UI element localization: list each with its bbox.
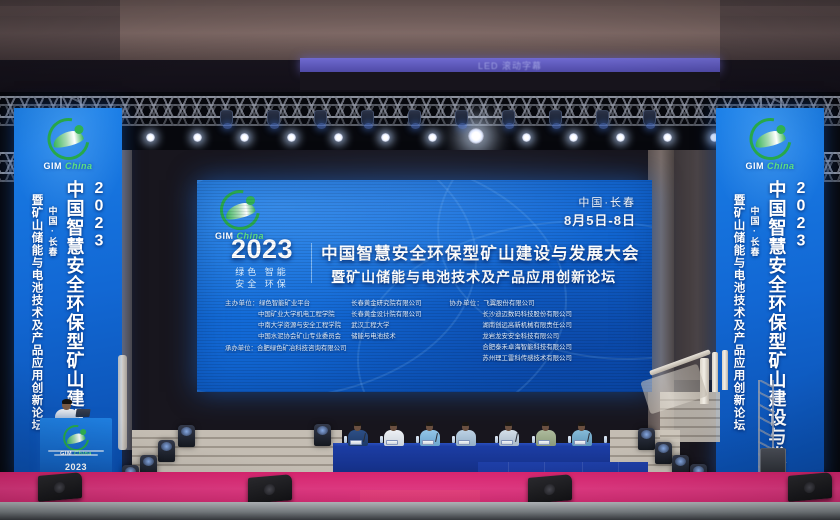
gim-logo-text-main: GIM (43, 161, 62, 171)
name-plate (574, 440, 586, 445)
credits-host-item: 中南大学资源与安全工程学院 (225, 320, 341, 331)
credits-host-col2: 长春黄金研究院有限公司 长春黄金设计院有限公司 武汉工程大学 储能与电池技术 (351, 298, 421, 364)
main-led-screen: GIM China 中国·长春 8月5日-8日 2023 绿色 智能 安全 环保… (197, 180, 652, 392)
credits-host-item: 储能与电池技术 (351, 331, 421, 342)
moving-head-light (361, 110, 374, 126)
gim-logo-mark-icon (749, 118, 791, 160)
credits-host-item: 长春黄金设计院有限公司 (351, 309, 421, 320)
water-bottle (452, 436, 455, 443)
led-ticker-strip: LED 滚动字幕 (300, 58, 720, 72)
water-bottle (568, 436, 571, 443)
credits-host-item: 长春黄金研究院有限公司 (351, 298, 421, 309)
stage-monitor-speaker (38, 472, 82, 502)
credits-host-item: 中国矿业大学机电工程学院 (225, 309, 341, 320)
floor-moving-light (655, 442, 672, 464)
gim-logo-mark-icon (220, 190, 260, 230)
floor-moving-light (178, 425, 195, 447)
water-bottle (532, 436, 535, 443)
credits-organizer-value: 合肥绿色矿冶科技咨询有限公司 (257, 345, 346, 352)
balustrade-post (722, 350, 728, 390)
credits-host-label: 主办单位： (225, 300, 259, 307)
gim-logo-mark-icon (47, 118, 89, 160)
podium-title-line (54, 454, 99, 456)
name-plate (458, 440, 470, 445)
credits-cohost-item: 长沙迪迈数码科技股份有限公司 (449, 309, 571, 320)
credits-cohost-item: 合肥泰禾卓海智能科技有限公司 (449, 342, 571, 353)
credits-cohost-item: 苏州理工雷科传感技术有限公司 (449, 353, 571, 364)
proscenium-wall-right (674, 150, 720, 380)
moving-head-light (502, 110, 515, 126)
name-plate (350, 440, 362, 445)
gim-logo-text-cn: China (65, 161, 93, 171)
credits-host-item: 中国水泥协会矿山专业委员会 (225, 331, 341, 342)
credits-host-item: 绿色智能矿业平台 (259, 300, 310, 307)
credits-cohost-label: 协办单位： (449, 300, 483, 307)
water-bottle (604, 436, 607, 443)
title-divider (311, 243, 312, 283)
panelist-hair (578, 422, 586, 426)
back-wall-panel-left (0, 0, 120, 60)
banner-right-year: 2023 (792, 180, 810, 474)
screen-location: 中国·长春 (564, 196, 636, 212)
stage-lamp (522, 133, 531, 142)
floor-moving-light (314, 424, 331, 446)
screen-year-block: 2023 绿色 智能 安全 环保 (231, 236, 302, 290)
moving-head-light (314, 110, 327, 126)
water-bottle (416, 436, 419, 443)
screen-title-main: 中国智慧安全环保型矿山建设与发展大会 暨矿山储能与电池技术及产品应用创新论坛 (321, 240, 640, 287)
podium-year: 2023 (40, 462, 112, 472)
water-bottle (495, 436, 498, 443)
banner-right-logo-text: GIM China (745, 161, 794, 171)
screen-dates: 8月5日-8日 (564, 212, 636, 231)
stage-lamp (428, 133, 437, 142)
gim-logo-text-cn: China (767, 161, 795, 171)
stage-lamp (569, 133, 578, 142)
stage-front-edge (0, 502, 840, 520)
screen-slogan: 绿色 智能 安全 环保 (231, 266, 293, 290)
water-bottle (344, 436, 347, 443)
stage-lamp (663, 133, 672, 142)
stage-monitor-speaker (528, 474, 572, 504)
stage-lamp (193, 133, 202, 142)
panelist-hair (426, 422, 434, 426)
banner-left-logo: GIM China (43, 118, 92, 171)
stage-lamp (146, 133, 155, 142)
moving-head-light (220, 110, 233, 126)
podium-laptop (75, 409, 90, 417)
stage-lamp (240, 133, 249, 142)
moving-head-light (643, 110, 656, 126)
credits-organizer-label: 承办单位： (225, 345, 257, 352)
screen-title-line1: 中国智慧安全环保型矿山建设与发展大会 (321, 240, 640, 264)
floor-moving-light (638, 428, 655, 450)
stage-lamp (381, 133, 390, 142)
stage-monitor-speaker (248, 474, 292, 504)
speaker-hair (62, 399, 72, 404)
name-plate (538, 440, 550, 445)
moving-head-light (596, 110, 609, 126)
stage-lamp-bright (468, 128, 484, 144)
credits-cohost-item: 飞翼股份有限公司 (483, 300, 534, 307)
ticker-shadow-band (300, 72, 720, 90)
stage-lamp (334, 133, 343, 142)
screen-title-line2: 暨矿山储能与电池技术及产品应用创新论坛 (321, 267, 640, 287)
led-ticker-text: LED 滚动字幕 (478, 59, 542, 72)
floor-moving-light (158, 440, 175, 462)
screen-date-block: 中国·长春 8月5日-8日 (564, 196, 636, 231)
podium-title-line (48, 450, 103, 452)
water-bottle (380, 436, 383, 443)
balustrade-post (712, 352, 718, 392)
panelist-hair (354, 422, 362, 426)
banner-right-logo: GIM China (745, 118, 794, 171)
banner-left-logo-text: GIM China (43, 161, 92, 171)
stage-lamp (287, 133, 296, 142)
panelist-hair (542, 422, 550, 426)
panelist-hair (390, 422, 398, 426)
banner-right-title-sub: 暨矿山储能与电池技术及产品应用创新论坛 (731, 180, 747, 474)
conference-stage-photo: LED 滚动字幕 (0, 0, 840, 520)
gim-logo-mark-icon (63, 425, 89, 451)
back-wall-panel (120, 0, 720, 60)
podium-title-lines (44, 450, 108, 456)
moving-head-light (408, 110, 421, 126)
credits-cohost-col: 协办单位：飞翼股份有限公司 长沙迪迈数码科技股份有限公司 湖南创远高新机械有限责… (449, 298, 571, 364)
moving-head-light (267, 110, 280, 126)
credits-host-item: 武汉工程大学 (351, 320, 421, 331)
credits-host-col1: 主办单位：绿色智能矿业平台 中国矿业大学机电工程学院 中南大学资源与安全工程学院… (225, 298, 341, 364)
stage-lamp (616, 133, 625, 142)
moving-head-light (549, 110, 562, 126)
panelist-hair (505, 422, 513, 426)
balustrade-left (118, 355, 127, 450)
screen-slogan-line2: 安全 环保 (231, 278, 293, 290)
screen-slogan-line1: 绿色 智能 (231, 266, 293, 278)
credits-cohost-item: 龙岩龙安安全科技有限公司 (449, 331, 571, 342)
name-plate (501, 440, 513, 445)
moving-head-light (455, 110, 468, 126)
gim-logo-text-main: GIM (745, 161, 764, 171)
screen-organizer-line: 承办单位：合肥绿色矿冶科技咨询有限公司 (225, 343, 346, 352)
back-wall-panel-right (720, 0, 840, 60)
panelist-hair (462, 422, 470, 426)
credits-cohost-item: 湖南创远高新机械有限责任公司 (449, 320, 571, 331)
name-plate (386, 440, 398, 445)
screen-year: 2023 (231, 236, 293, 263)
screen-credits: 主办单位：绿色智能矿业平台 中国矿业大学机电工程学院 中南大学资源与安全工程学院… (225, 298, 640, 364)
stage-monitor-speaker (788, 472, 832, 502)
name-plate (422, 440, 434, 445)
screen-title-row: 2023 绿色 智能 安全 环保 中国智慧安全环保型矿山建设与发展大会 暨矿山储… (231, 236, 640, 290)
